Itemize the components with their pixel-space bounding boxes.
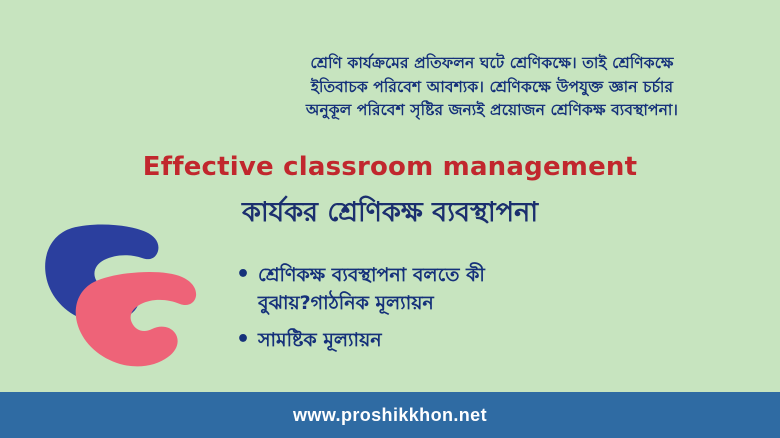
bullet-text: শ্রেণিকক্ষ ব্যবস্থাপনা বলতে কী বুঝায়?গা… <box>258 262 748 317</box>
website-url: www.proshikkhon.net <box>293 405 487 426</box>
headline-english: Effective classroom management <box>0 152 780 182</box>
intro-paragraph: শ্রেণি কার্যক্রমের প্রতিফলন ঘটে শ্রেণিকক… <box>228 52 756 123</box>
bullet-text: সামষ্টিক মূল্যায়ন <box>258 327 748 355</box>
list-item: • সামষ্টিক মূল্যায়ন <box>228 327 748 355</box>
intro-line-2: ইতিবাচক পরিবেশ আবশ্যক। শ্রেণিকক্ষে উপযুক… <box>228 76 756 100</box>
bullet-dot-icon: • <box>228 262 258 288</box>
bullet-dot-icon: • <box>228 327 258 353</box>
poster-canvas: শ্রেণি কার্যক্রমের প্রতিফলন ঘটে শ্রেণিকক… <box>0 0 780 438</box>
footer-bar: www.proshikkhon.net <box>0 392 780 438</box>
bullet-line-2: বুঝায়?গাঠনিক মূল্যায়ন <box>258 290 748 318</box>
front-hand-icon <box>76 272 196 366</box>
bullet-line-1: সামষ্টিক মূল্যায়ন <box>258 329 382 351</box>
intro-line-3: অনুকূল পরিবেশ সৃষ্টির জন্যই প্রয়োজন শ্র… <box>228 99 756 123</box>
bullet-list: • শ্রেণিকক্ষ ব্যবস্থাপনা বলতে কী বুঝায়?… <box>228 262 748 365</box>
intro-line-1: শ্রেণি কার্যক্রমের প্রতিফলন ঘটে শ্রেণিকক… <box>228 52 756 76</box>
two-hands-illustration <box>38 218 223 378</box>
list-item: • শ্রেণিকক্ষ ব্যবস্থাপনা বলতে কী বুঝায়?… <box>228 262 748 317</box>
bullet-line-1: শ্রেণিকক্ষ ব্যবস্থাপনা বলতে কী <box>258 264 485 286</box>
